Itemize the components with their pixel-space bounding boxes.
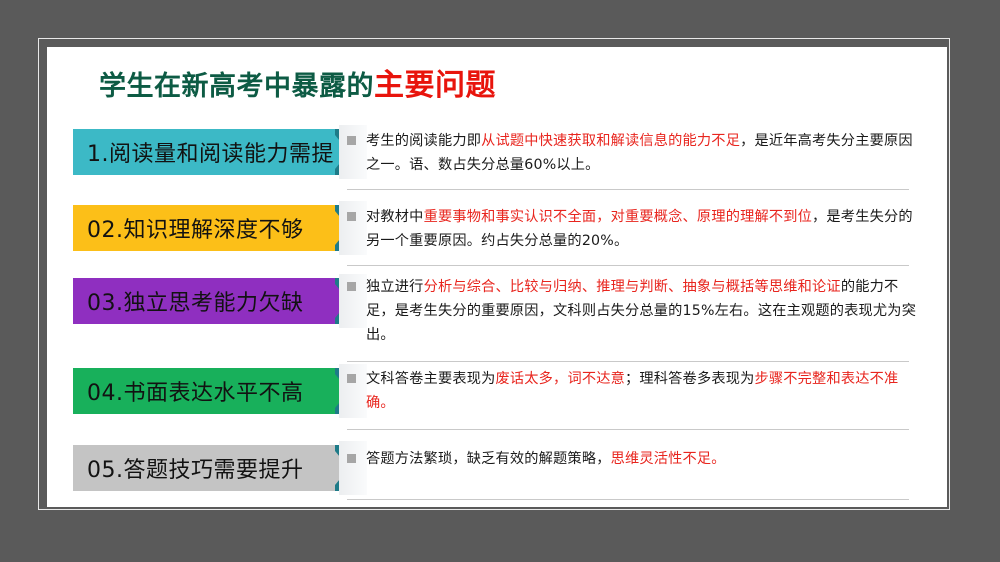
issue-body-text: 考生的阅读能力即从试题中快速获取和解读信息的能力不足，是近年高考失分主要原因之一… bbox=[366, 129, 927, 177]
page-title: 学生在新高考中暴露的主要问题 bbox=[99, 69, 496, 102]
issue-label-box: 1.阅读量和阅读能力需提高 bbox=[73, 129, 335, 175]
issue-label-box: 03.独立思考能力欠缺 bbox=[73, 278, 335, 324]
issue-body-text: 答题方法繁琐，缺乏有效的解题策略，思维灵活性不足。 bbox=[366, 447, 726, 471]
square-bullet-icon bbox=[347, 212, 356, 221]
issue-label-box: 04.书面表达水平不高 bbox=[73, 368, 335, 414]
body-segment-2: 思维灵活性不足。 bbox=[611, 451, 726, 467]
issue-label-text: 03.独立思考能力欠缺 bbox=[87, 285, 304, 317]
issue-body-text: 文科答卷主要表现为废话太多，词不达意；理科答卷多表现为步骤不完整和表达不准确。 bbox=[366, 367, 927, 415]
issue-body-5: 答题方法繁琐，缺乏有效的解题策略，思维灵活性不足。 bbox=[347, 447, 927, 471]
issue-label-text: 1.阅读量和阅读能力需提高 bbox=[87, 136, 357, 168]
issue-label-box: 05.答题技巧需要提升 bbox=[73, 445, 335, 491]
issue-label-3[interactable]: 03.独立思考能力欠缺 bbox=[73, 278, 343, 324]
title-normal-text: 学生在新高考中暴露的 bbox=[99, 71, 374, 102]
row-separator bbox=[347, 499, 909, 500]
issue-body-3: 独立进行分析与综合、比较与归纳、推理与判断、抽象与概括等思维和论证的能力不足，是… bbox=[347, 275, 927, 347]
title-accent-text: 主要问题 bbox=[374, 68, 496, 103]
issue-body-2: 对教材中重要事物和事实认识不全面，对重要概念、原理的理解不到位，是考生失分的另一… bbox=[347, 205, 927, 253]
issue-label-box: 02.知识理解深度不够 bbox=[73, 205, 335, 251]
square-bullet-icon bbox=[347, 374, 356, 383]
body-segment-3: ；理科答卷多表现为 bbox=[625, 371, 755, 387]
body-segment-1: 答题方法繁琐，缺乏有效的解题策略， bbox=[366, 451, 611, 467]
body-segment-2: 废话太多，词不达意 bbox=[496, 371, 626, 387]
square-bullet-icon bbox=[347, 282, 356, 291]
issue-label-text: 04.书面表达水平不高 bbox=[87, 375, 304, 407]
issue-body-text: 对教材中重要事物和事实认识不全面，对重要概念、原理的理解不到位，是考生失分的另一… bbox=[366, 205, 927, 253]
presentation-slide: 学生在新高考中暴露的主要问题 1.阅读量和阅读能力需提高考生的阅读能力即从试题中… bbox=[47, 47, 947, 507]
issue-label-text: 05.答题技巧需要提升 bbox=[87, 452, 304, 484]
issue-body-text: 独立进行分析与综合、比较与归纳、推理与判断、抽象与概括等思维和论证的能力不足，是… bbox=[366, 275, 927, 347]
issue-label-1[interactable]: 1.阅读量和阅读能力需提高 bbox=[73, 129, 343, 175]
issue-label-text: 02.知识理解深度不够 bbox=[87, 212, 304, 244]
body-segment-2: 分析与综合、比较与归纳、推理与判断、抽象与概括等思维和论证 bbox=[424, 279, 841, 295]
square-bullet-icon bbox=[347, 136, 356, 145]
row-separator bbox=[347, 361, 909, 362]
issue-label-2[interactable]: 02.知识理解深度不够 bbox=[73, 205, 343, 251]
body-segment-1: 对教材中 bbox=[366, 209, 424, 225]
issue-body-1: 考生的阅读能力即从试题中快速获取和解读信息的能力不足，是近年高考失分主要原因之一… bbox=[347, 129, 927, 177]
body-segment-2: 重要事物和事实认识不全面，对重要概念、原理的理解不到位 bbox=[424, 209, 812, 225]
issue-label-5[interactable]: 05.答题技巧需要提升 bbox=[73, 445, 343, 491]
issue-body-4: 文科答卷主要表现为废话太多，词不达意；理科答卷多表现为步骤不完整和表达不准确。 bbox=[347, 367, 927, 415]
body-segment-1: 独立进行 bbox=[366, 279, 424, 295]
row-separator bbox=[347, 189, 909, 190]
body-segment-1: 文科答卷主要表现为 bbox=[366, 371, 496, 387]
row-separator bbox=[347, 429, 909, 430]
issue-label-4[interactable]: 04.书面表达水平不高 bbox=[73, 368, 343, 414]
body-segment-2: 从试题中快速获取和解读信息的能力不足 bbox=[481, 133, 740, 149]
row-separator bbox=[347, 265, 909, 266]
body-segment-1: 考生的阅读能力即 bbox=[366, 133, 481, 149]
square-bullet-icon bbox=[347, 454, 356, 463]
